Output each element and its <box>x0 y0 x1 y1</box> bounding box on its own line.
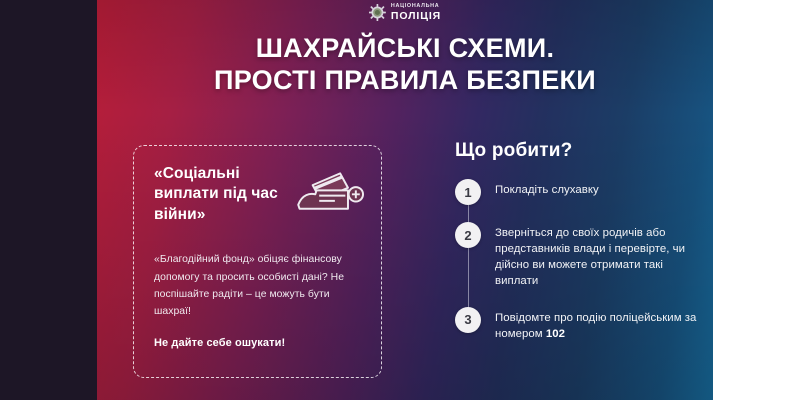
list-item: 3 Повідомте про подію поліцейським за но… <box>455 307 705 343</box>
step-text-3: Повідомте про подію поліцейським за номе… <box>495 307 705 343</box>
list-item: 2 Зверніться до своїх родичів або предст… <box>455 222 705 290</box>
card-title: «Соціальні виплати під час війни» <box>154 164 306 225</box>
step-text-2: Зверніться до своїх родичів або представ… <box>495 222 705 290</box>
card-warning: Не дайте себе ошукати! <box>154 337 361 349</box>
logo-text: НАЦІОНАЛЬНА ПОЛІЦІЯ <box>391 4 441 21</box>
steps-list: 1 Покладіть слухавку 2 Зверніться до сво… <box>455 179 705 343</box>
step-text-1: Покладіть слухавку <box>495 179 599 199</box>
card-description: «Благодійний фонд» обіцяє фінансову допо… <box>154 251 361 320</box>
logo-line-national: НАЦІОНАЛЬНА <box>391 4 441 9</box>
what-to-do-section: Що робити? 1 Покладіть слухавку 2 Зверні… <box>455 140 705 343</box>
police-logo: НАЦІОНАЛЬНА ПОЛІЦІЯ <box>369 4 441 21</box>
page-title: ШАХРАЙСЬКІ СХЕМИ. ПРОСТІ ПРАВИЛА БЕЗПЕКИ <box>97 33 713 96</box>
logo-line-police: ПОЛІЦІЯ <box>391 11 441 22</box>
infographic-poster: НАЦІОНАЛЬНА ПОЛІЦІЯ ШАХРАЙСЬКІ СХЕМИ. ПР… <box>0 0 800 400</box>
emergency-number: 102 <box>546 328 565 340</box>
money-payment-plus-icon <box>293 168 365 218</box>
police-badge-icon <box>369 4 386 21</box>
step-number-3: 3 <box>455 307 481 333</box>
poster-canvas: НАЦІОНАЛЬНА ПОЛІЦІЯ ШАХРАЙСЬКІ СХЕМИ. ПР… <box>97 0 713 400</box>
step-number-2: 2 <box>455 222 481 248</box>
headline-line-2: ПРОСТІ ПРАВИЛА БЕЗПЕКИ <box>97 65 713 97</box>
step-connector <box>468 248 469 308</box>
step-number-1: 1 <box>455 179 481 205</box>
headline-line-1: ШАХРАЙСЬКІ СХЕМИ. <box>97 33 713 65</box>
scam-scheme-card: «Соціальні виплати під час війни» «Благо… <box>133 145 382 378</box>
list-item: 1 Покладіть слухавку <box>455 179 705 205</box>
left-letterbox-bar <box>0 0 97 400</box>
steps-section-title: Що робити? <box>455 140 705 162</box>
step-3-text: Повідомте про подію поліцейським за номе… <box>495 312 696 340</box>
right-letterbox-bar <box>703 0 800 400</box>
